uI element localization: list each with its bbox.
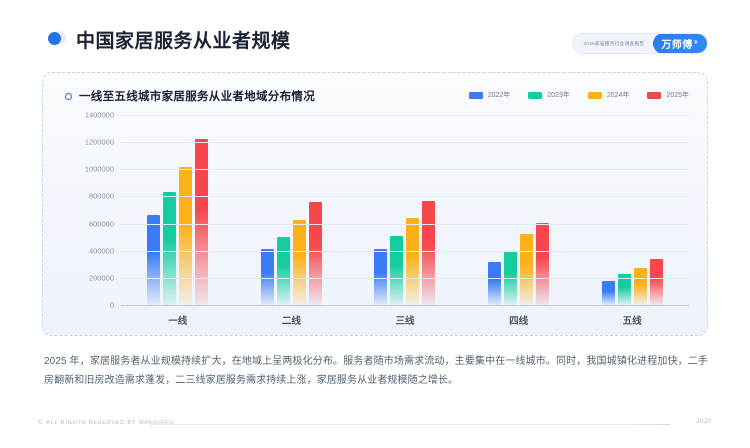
legend-swatch-icon (647, 92, 661, 99)
y-axis-tick-label: 1400000 (85, 111, 114, 120)
description-paragraph: 2025 年，家居服务者从业规模持续扩大，在地域上呈两极化分布。服务者随市场需求… (44, 352, 708, 390)
chart-bar-groups: 一线二线三线四线五线 (121, 115, 689, 305)
bar[interactable] (147, 215, 160, 305)
bar[interactable] (406, 218, 419, 305)
gridline: 1200000 (121, 142, 689, 143)
y-axis-tick-label: 1200000 (85, 138, 114, 147)
legend-label: 2023年 (547, 90, 570, 100)
slide-header: 中国家居服务从业者规模 2025家居服务行业调查报告 万师傅® (0, 0, 750, 72)
chart-title-group: 一线至五线城市家居服务从业者地域分布情况 (65, 88, 315, 104)
brand-logo-text: 万师傅 (661, 36, 693, 51)
slide-root: 中国家居服务从业者规模 2025家居服务行业调查报告 万师傅® 一线至五线城市家… (0, 0, 750, 448)
brand-tagline: 2025家居服务行业调查报告 (575, 40, 651, 47)
bar-group: 一线 (121, 115, 235, 305)
legend-item[interactable]: 2022年 (469, 90, 511, 100)
x-axis-tick-label: 二线 (235, 313, 349, 327)
gridline: 600000 (121, 224, 689, 225)
bar-set (462, 115, 576, 305)
bar-group: 五线 (575, 115, 689, 305)
y-axis-tick-label: 200000 (89, 273, 114, 282)
brand-logo-mark: ® (694, 40, 698, 46)
ring-dot-icon (65, 93, 72, 100)
footer-divider (150, 424, 670, 425)
x-axis-line: 0 (121, 305, 689, 306)
bar[interactable] (602, 281, 615, 305)
bar-set (348, 115, 462, 305)
y-axis-tick-label: 400000 (89, 246, 114, 255)
x-axis-tick-label: 三线 (348, 313, 462, 327)
bar[interactable] (163, 192, 176, 305)
legend-swatch-icon (528, 92, 542, 99)
bar-group: 四线 (462, 115, 576, 305)
gridline: 400000 (121, 251, 689, 252)
bar[interactable] (179, 167, 192, 305)
x-axis-tick-label: 五线 (575, 313, 689, 327)
bar-set (575, 115, 689, 305)
x-axis-tick-label: 四线 (462, 313, 576, 327)
bar[interactable] (488, 262, 501, 305)
bar[interactable] (277, 237, 290, 305)
bar[interactable] (634, 268, 647, 305)
copyright-notice: © ALL RIGHTS RESERVED BY WANSHIFU (38, 420, 174, 426)
legend-swatch-icon (588, 92, 602, 99)
bar[interactable] (261, 249, 274, 305)
legend-label: 2025年 (666, 90, 689, 100)
legend-label: 2024年 (607, 90, 630, 100)
y-axis-tick-label: 1000000 (85, 165, 114, 174)
bar[interactable] (195, 139, 208, 305)
bar-set (235, 115, 349, 305)
bar-group: 二线 (235, 115, 349, 305)
y-axis-tick-label: 0 (110, 301, 114, 310)
bar-set (121, 115, 235, 305)
bar[interactable] (390, 236, 403, 305)
copyright-icon: © (38, 420, 43, 426)
bar-group: 三线 (348, 115, 462, 305)
brand-logo: 万师傅® (653, 33, 707, 54)
bar[interactable] (520, 234, 533, 305)
chart-legend: 2022年2023年2024年2025年 (469, 90, 689, 100)
copyright-text: ALL RIGHTS RESERVED BY WANSHIFU (46, 420, 174, 426)
bar[interactable] (650, 259, 663, 305)
bar[interactable] (536, 223, 549, 305)
chart-title: 一线至五线城市家居服务从业者地域分布情况 (79, 88, 315, 104)
gridline: 1000000 (121, 169, 689, 170)
blue-dot-icon (48, 31, 65, 48)
legend-label: 2022年 (488, 90, 511, 100)
y-axis-tick-label: 600000 (89, 219, 114, 228)
chart-card: 一线至五线城市家居服务从业者地域分布情况 2022年2023年2024年2025… (42, 72, 708, 336)
gridline: 1400000 (121, 115, 689, 116)
bar[interactable] (422, 201, 435, 305)
y-axis-tick-label: 800000 (89, 192, 114, 201)
page-number: 2020 (696, 419, 712, 425)
gridline: 800000 (121, 196, 689, 197)
page-title-group: 中国家居服务从业者规模 (48, 26, 291, 53)
x-axis-tick-label: 一线 (121, 313, 235, 327)
brand-badge: 2025家居服务行业调查报告 万师傅® (572, 33, 708, 54)
page-title: 中国家居服务从业者规模 (76, 26, 291, 53)
gridline: 200000 (121, 278, 689, 279)
chart-plot-area: 一线二线三线四线五线 02000004000006000008000001000… (121, 115, 689, 305)
legend-swatch-icon (469, 92, 483, 99)
bar[interactable] (309, 202, 322, 305)
slide-footer: © ALL RIGHTS RESERVED BY WANSHIFU 2020 (0, 420, 750, 432)
legend-item[interactable]: 2024年 (588, 90, 630, 100)
legend-item[interactable]: 2025年 (647, 90, 689, 100)
bar[interactable] (293, 220, 306, 306)
legend-item[interactable]: 2023年 (528, 90, 570, 100)
